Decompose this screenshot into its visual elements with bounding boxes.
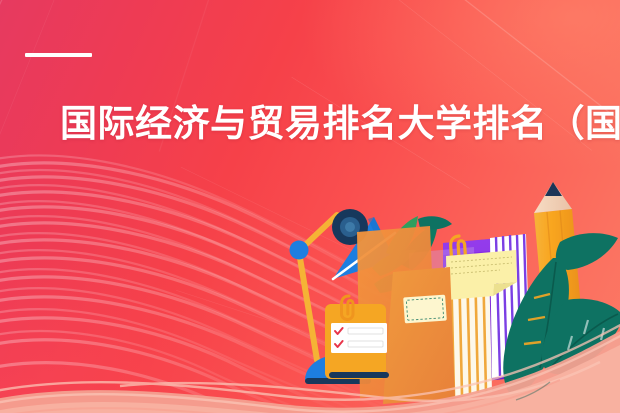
clipboard-base-shadow (329, 372, 389, 378)
clipboard (325, 296, 389, 379)
pencil-tip (545, 182, 562, 196)
lamp-arm (299, 252, 317, 360)
orange-notebook (383, 267, 455, 404)
lamp-arm (301, 215, 337, 249)
banner: 国际经济与贸易排名大学排名（国际 (0, 0, 620, 413)
lamp-joint (290, 241, 309, 260)
clipboard-paper (331, 323, 387, 353)
lamp-bulb (345, 222, 355, 232)
orange-notebook-cover (383, 267, 455, 404)
checklist-line (348, 341, 383, 347)
checklist-line (348, 328, 383, 334)
study-desk-illustration (0, 0, 620, 413)
